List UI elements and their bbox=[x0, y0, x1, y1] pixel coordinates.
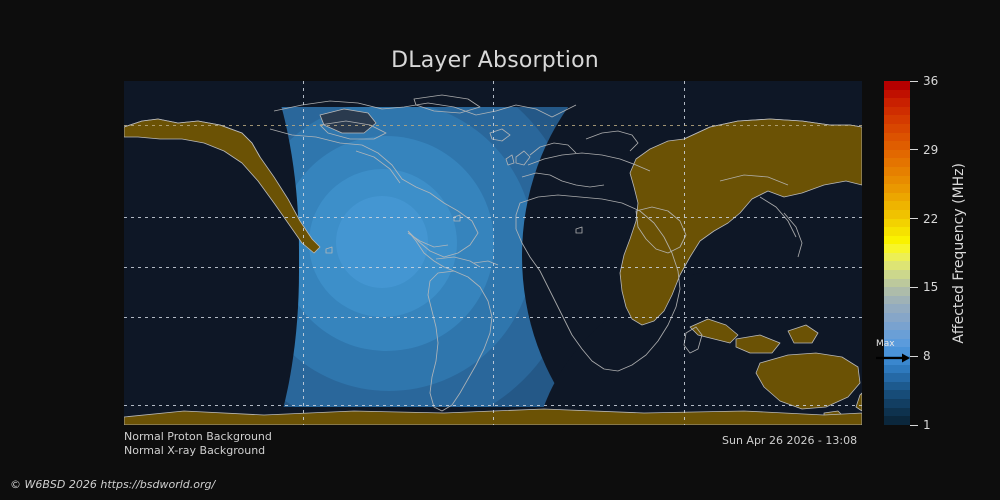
colorbar-segment bbox=[884, 184, 910, 193]
colorbar-segment bbox=[884, 287, 910, 296]
colorbar-segment bbox=[884, 330, 910, 339]
colorbar-segment bbox=[884, 279, 910, 288]
colorbar-segment bbox=[884, 210, 910, 219]
colorbar-segment bbox=[884, 313, 910, 322]
colorbar-segment bbox=[884, 244, 910, 253]
colorbar-segment bbox=[884, 322, 910, 331]
gridline-lat-minus45 bbox=[124, 405, 862, 406]
colorbar-segment bbox=[884, 167, 910, 176]
gridline-lat-0 bbox=[124, 317, 862, 318]
max-arrow-icon bbox=[876, 353, 910, 363]
colorbar-segment bbox=[884, 201, 910, 210]
colorbar-label-text: Affected Frequency (MHz) bbox=[951, 163, 967, 344]
max-marker: Max bbox=[862, 339, 922, 365]
gridline-lat-30 bbox=[124, 217, 862, 218]
colorbar-segment bbox=[884, 133, 910, 142]
page-title: DLayer Absorption bbox=[0, 48, 990, 73]
colorbar-tick-mark bbox=[910, 81, 918, 82]
gridline-lon-60 bbox=[684, 81, 685, 425]
xray-status: Normal X-ray Background bbox=[124, 444, 265, 457]
colorbar-segment bbox=[884, 365, 910, 374]
map-canvas bbox=[124, 81, 862, 425]
colorbar-segment bbox=[884, 408, 910, 417]
colorbar-tick: 29 bbox=[910, 143, 938, 157]
colorbar-segment bbox=[884, 219, 910, 228]
colorbar-tick: 1 bbox=[910, 418, 931, 432]
colorbar-segment bbox=[884, 296, 910, 305]
colorbar-segment bbox=[884, 399, 910, 408]
colorbar-tick: 36 bbox=[910, 74, 938, 88]
colorbar-segment bbox=[884, 98, 910, 107]
colorbar-segment bbox=[884, 270, 910, 279]
colorbar-tick-label: 1 bbox=[923, 418, 931, 432]
gridline-lat-60 bbox=[124, 125, 862, 126]
colorbar-tick: 15 bbox=[910, 280, 938, 294]
absorption-map[interactable] bbox=[124, 81, 862, 425]
colorbar-segment bbox=[884, 193, 910, 202]
colorbar-segment bbox=[884, 382, 910, 391]
gridline-lon-0 bbox=[493, 81, 494, 425]
colorbar-segment bbox=[884, 304, 910, 313]
colorbar-segment bbox=[884, 107, 910, 116]
colorbar-tick-label: 15 bbox=[923, 280, 938, 294]
colorbar-segment bbox=[884, 150, 910, 159]
figure-root: DLayer Absorption bbox=[0, 0, 1000, 500]
colorbar-segment bbox=[884, 416, 910, 425]
copyright-notice: © W6BSD 2026 https://bsdworld.org/ bbox=[10, 478, 215, 491]
proton-status: Normal Proton Background bbox=[124, 430, 272, 443]
colorbar-tick-label: 29 bbox=[923, 143, 938, 157]
colorbar-axis-label: Affected Frequency (MHz) bbox=[944, 81, 974, 425]
colorbar-segment bbox=[884, 158, 910, 167]
colorbar-segment bbox=[884, 261, 910, 270]
colorbar-tick-mark bbox=[910, 425, 918, 426]
colorbar-segment bbox=[884, 253, 910, 262]
colorbar-tick-label: 22 bbox=[923, 212, 938, 226]
gridline-lat-15 bbox=[124, 267, 862, 268]
colorbar-tick-label: 36 bbox=[923, 74, 938, 88]
colorbar-tick-label: 8 bbox=[923, 349, 931, 363]
timestamp: Sun Apr 26 2026 - 13:08 bbox=[722, 434, 857, 447]
colorbar-segment bbox=[884, 124, 910, 133]
colorbar-segment bbox=[884, 90, 910, 99]
colorbar-segment bbox=[884, 390, 910, 399]
colorbar-tick-mark bbox=[910, 218, 918, 219]
colorbar-tick-mark bbox=[910, 149, 918, 150]
colorbar-segment bbox=[884, 81, 910, 90]
colorbar-segment bbox=[884, 141, 910, 150]
colorbar-tick: 22 bbox=[910, 212, 938, 226]
colorbar-segment bbox=[884, 373, 910, 382]
max-marker-label: Max bbox=[876, 339, 895, 349]
gridline-lon-minus60 bbox=[303, 81, 304, 425]
colorbar-segment bbox=[884, 176, 910, 185]
colorbar-segment bbox=[884, 236, 910, 245]
colorbar-segment bbox=[884, 115, 910, 124]
colorbar-tick-mark bbox=[910, 287, 918, 288]
colorbar-segment bbox=[884, 227, 910, 236]
colorbar[interactable] bbox=[884, 81, 910, 425]
